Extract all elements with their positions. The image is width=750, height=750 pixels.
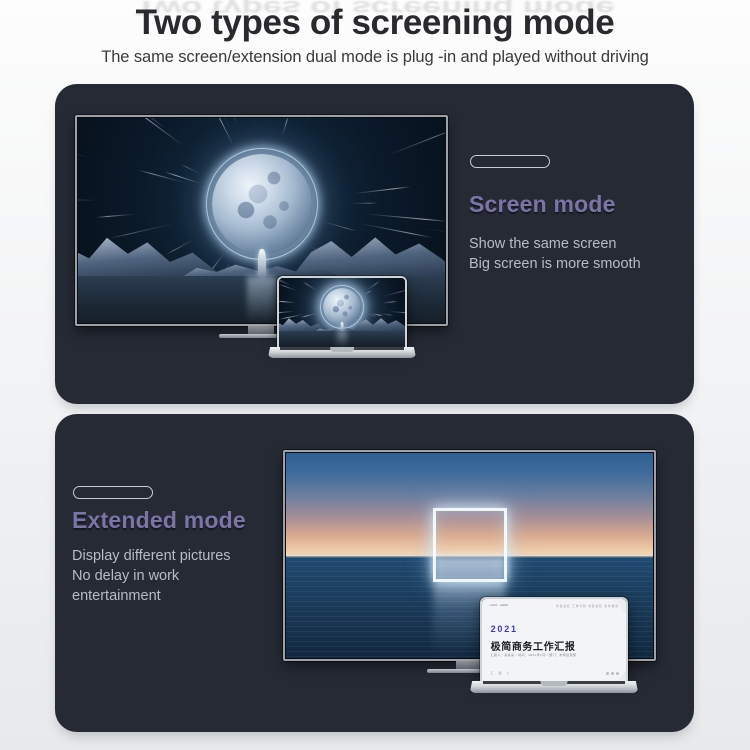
mode-title-screen: Screen mode: [469, 191, 616, 218]
page-title: Two types of screening mode: [0, 3, 750, 43]
laptop-display-slide: LOGO · HERE 年度总结 工作计划 项目总结 新年规划 2021 极简商…: [482, 599, 626, 681]
laptop-extended-mode: LOGO · HERE 年度总结 工作计划 项目总结 新年规划 2021 极简商…: [480, 597, 628, 693]
slide-headline: 极简商务工作汇报: [491, 638, 576, 653]
slide-topbar: LOGO · HERE 年度总结 工作计划 项目总结 新年规划: [482, 599, 626, 613]
laptop-trackpad-notch: [330, 347, 354, 352]
slide-footer: 汇 报 人 ：: [491, 671, 520, 675]
slide-logo: LOGO · HERE: [489, 604, 508, 607]
indicator-pill-screen-mode: [470, 155, 550, 168]
indicator-pill-extended-mode: [73, 486, 153, 499]
laptop-keyboard-deck: [470, 681, 639, 693]
card-screen-mode: Screen mode Show the same screen Big scr…: [55, 84, 694, 404]
laptop-trackpad-notch: [541, 681, 568, 686]
laptop-display-moon-scene: [279, 278, 405, 347]
slide-year: 2021: [491, 624, 518, 634]
mode-description-screen: Show the same screen Big screen is more …: [469, 234, 684, 274]
neon-square-graphic: [433, 508, 507, 582]
card-extended-mode: Extended mode Display different pictures…: [55, 414, 694, 732]
page-header: Two types of screening mode Two types of…: [0, 0, 750, 80]
slide-subline: 汇报人：某某某 / 时间：2021年1月 / 部门：市场运营部: [491, 653, 577, 657]
slide-page-dots: [606, 672, 619, 675]
laptop-screen-mode: [277, 276, 407, 358]
slide-nav: 年度总结 工作计划 项目总结 新年规划: [556, 604, 619, 608]
laptop-keyboard-deck: [268, 347, 416, 358]
mode-title-extended: Extended mode: [72, 507, 246, 534]
laptop-lid: [277, 276, 407, 347]
page-subtitle: The same screen/extension dual mode is p…: [0, 48, 750, 67]
mode-description-extended: Display different pictures No delay in w…: [72, 546, 302, 606]
laptop-lid: LOGO · HERE 年度总结 工作计划 项目总结 新年规划 2021 极简商…: [480, 597, 628, 681]
